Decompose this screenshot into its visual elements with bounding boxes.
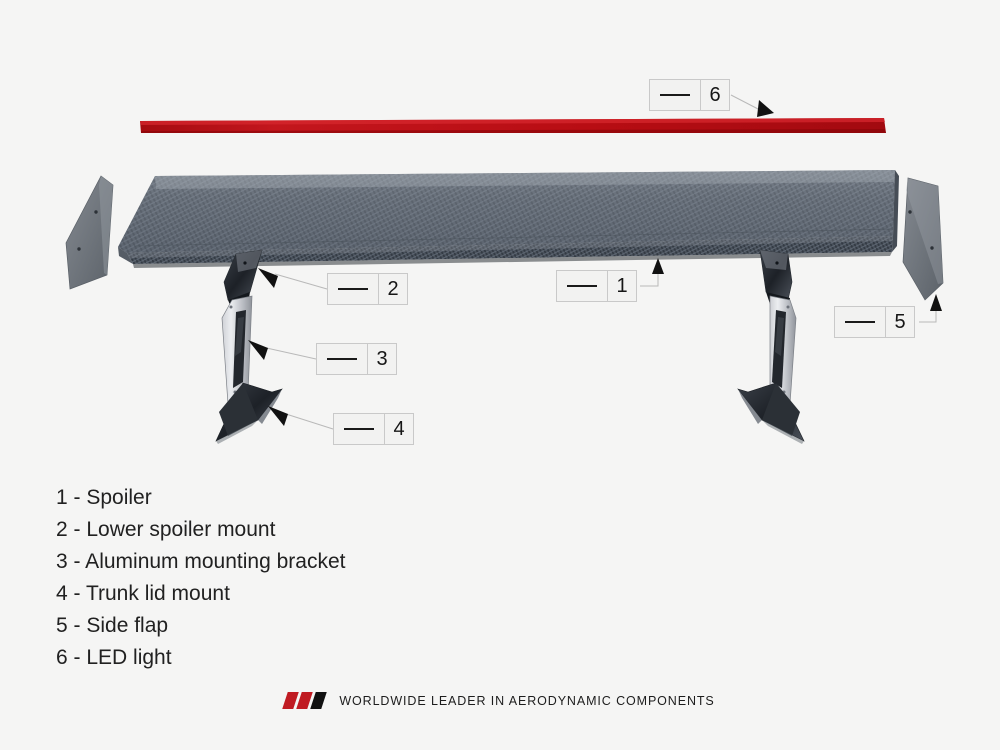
callout-3-dash-cell [317, 344, 368, 374]
legend-item-1: 1 - Spoiler [56, 482, 345, 514]
callout-1[interactable]: 1 [556, 270, 637, 302]
callout-3[interactable]: 3 [316, 343, 397, 375]
callout-6-number: 6 [701, 80, 729, 110]
callout-4-dash-cell [334, 414, 385, 444]
left-trunk-mount [216, 383, 282, 444]
dash-icon [344, 428, 374, 430]
product-diagram-page: 1 2 3 4 5 6 1 - Spoiler 2 - Lower spoile… [0, 0, 1000, 750]
brand-stripes-icon [285, 692, 327, 709]
brand-stripe-3 [311, 692, 328, 709]
callout-5-dash-cell [835, 307, 886, 337]
callout-1-dash-cell [557, 271, 608, 301]
callout-5[interactable]: 5 [834, 306, 915, 338]
legend-item-2: 2 - Lower spoiler mount [56, 514, 345, 546]
legend-item-5: 5 - Side flap [56, 610, 345, 642]
callout-2-dash-cell [328, 274, 379, 304]
dash-icon [845, 321, 875, 323]
left-side-flap [66, 176, 113, 289]
footer-tagline: WORLDWIDE LEADER IN AERODYNAMIC COMPONEN… [339, 694, 714, 708]
led-strip [140, 118, 886, 133]
footer-branding: WORLDWIDE LEADER IN AERODYNAMIC COMPONEN… [0, 692, 1000, 709]
callout-6[interactable]: 6 [649, 79, 730, 111]
callout-5-number: 5 [886, 307, 914, 337]
callout-2[interactable]: 2 [327, 273, 408, 305]
dash-icon [327, 358, 357, 360]
dash-icon [338, 288, 368, 290]
callout-1-number: 1 [608, 271, 636, 301]
callout-2-number: 2 [379, 274, 407, 304]
legend-item-6: 6 - LED light [56, 642, 345, 674]
legend-item-3: 3 - Aluminum mounting bracket [56, 546, 345, 578]
callout-4[interactable]: 4 [333, 413, 414, 445]
dash-icon [660, 94, 690, 96]
legend-item-4: 4 - Trunk lid mount [56, 578, 345, 610]
right-trunk-mount [738, 383, 804, 444]
right-side-flap [903, 178, 943, 300]
callout-6-dash-cell [650, 80, 701, 110]
dash-icon [567, 285, 597, 287]
legend-list: 1 - Spoiler 2 - Lower spoiler mount 3 - … [56, 482, 345, 674]
callout-4-number: 4 [385, 414, 413, 444]
callout-3-number: 3 [368, 344, 396, 374]
